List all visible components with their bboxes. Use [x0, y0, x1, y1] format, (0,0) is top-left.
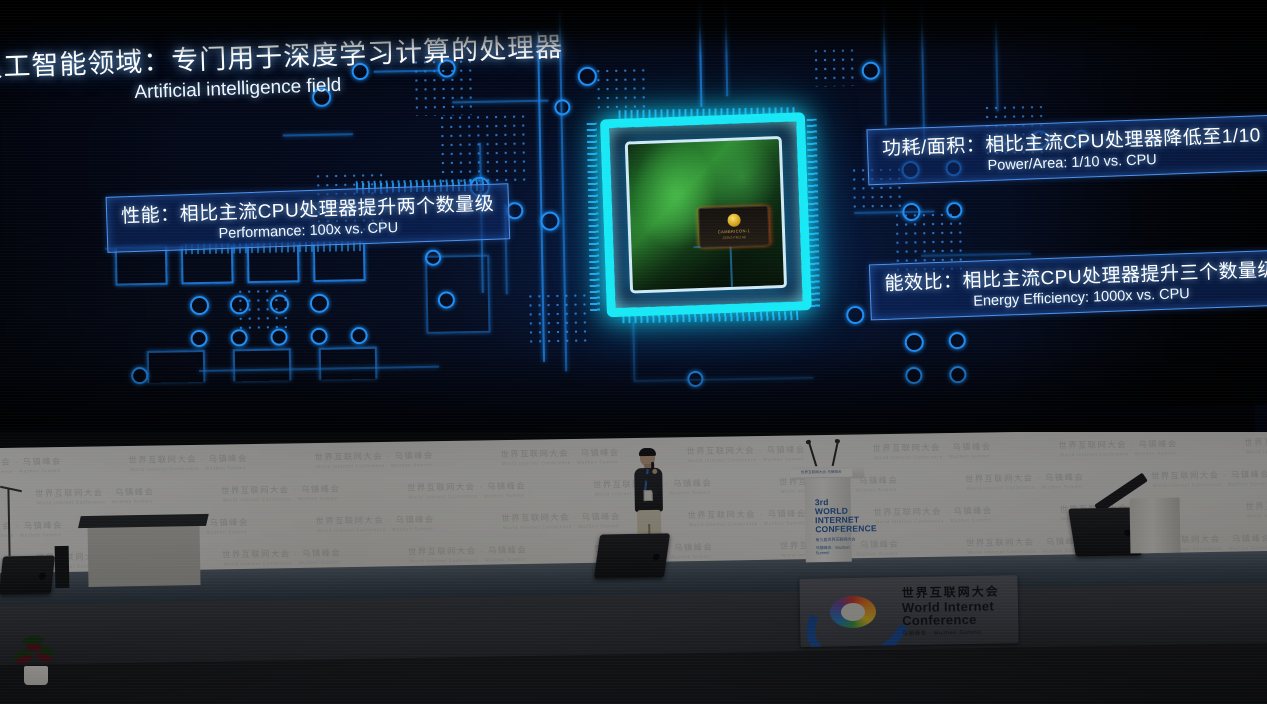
backdrop-brand-unit: 世界互联网大会 · 乌镇峰会World Internet Conference … — [189, 546, 375, 567]
stage-front-logo: 世界互联网大会 World Internet Conference 乌镇峰会 ·… — [799, 575, 1018, 647]
chip-package-line1: CAMBRICON-1 — [700, 228, 768, 235]
podium-sign-cn: 世界互联网大会·乌镇峰会 — [790, 469, 852, 475]
backdrop-brand-unit: 世界互联网大会 · 乌镇峰会World Internet Conference … — [2, 485, 188, 506]
stage-riser-panel — [87, 523, 200, 587]
podium-branding: 3rd WORLD INTERNET CONFERENCE 第三届世界互联网大会… — [815, 498, 856, 556]
backdrop-brand-cn: 世界互联网大会 · 乌镇峰会 — [1211, 434, 1267, 449]
backdrop-brand-cn: 世界互联网大会 · 乌镇峰会 — [1212, 498, 1267, 513]
stage-speaker-left — [55, 546, 70, 588]
backdrop-brand-en: World Internet Conference · Wuzhen Summi… — [0, 531, 96, 539]
backdrop-brand-unit: 世界互联网大会 · 乌镇峰会World Internet Conference … — [0, 454, 95, 475]
processor-chip-graphic: CAMBRICON-1 ZERO-PRO A8 — [600, 112, 812, 317]
podium-brand-line1: 3rd WORLD — [815, 498, 855, 517]
riser-lip — [78, 514, 209, 528]
backdrop-brand-unit: 世界互联网大会 · 乌镇峰会World Internet Conference … — [95, 452, 281, 473]
backdrop-brand-unit: 世界互联网大会 · 乌镇峰会World Internet Conference … — [373, 479, 559, 500]
backdrop-brand-unit: 世界互联网大会 · 乌镇峰会World Internet Conference … — [375, 543, 561, 564]
plant-flower — [26, 644, 42, 651]
backdrop-brand-unit: 世界互联网大会 · 乌镇峰会World Internet Conference … — [188, 482, 374, 503]
stage-logo-en-line2: Conference — [902, 612, 1014, 627]
plant-pot — [24, 666, 48, 685]
backdrop-brand-unit: 世界互联网大会 · 乌镇峰会World Internet Conference … — [931, 470, 1117, 491]
backdrop-brand-unit: 世界互联网大会 · 乌镇峰会World Internet Conference … — [282, 513, 468, 534]
chip-logo-icon — [727, 214, 740, 227]
speaker-hand — [652, 469, 657, 474]
stage-monitor-left — [0, 556, 55, 595]
chip-die-photo: CAMBRICON-1 ZERO-PRO A8 — [625, 136, 787, 294]
backdrop-brand-unit: 世界互联网大会 · 乌镇峰会World Internet Conference … — [1212, 498, 1267, 519]
stage-logo-sub: 乌镇峰会 · Wuzhen Summit — [902, 627, 1014, 637]
stage-logo-text: 世界互联网大会 World Internet Conference 乌镇峰会 ·… — [902, 582, 1015, 637]
chip-package: CAMBRICON-1 ZERO-PRO A8 — [698, 206, 769, 248]
chip-trace-vertical — [729, 245, 733, 294]
decorative-plant — [10, 628, 62, 686]
backdrop-brand-unit: 世界互联网大会 · 乌镇峰会World Internet Conference … — [468, 510, 654, 531]
stage-cube-right — [1130, 498, 1181, 554]
podium-brand-sub-en: 乌镇峰会 · Wuzhen Summit — [816, 545, 856, 556]
backdrop-brand-unit: 世界互联网大会 · 乌镇峰会World Internet Conference … — [281, 449, 467, 470]
backdrop-brand-unit: 世界互联网大会 · 乌镇峰会World Internet Conference … — [840, 504, 1026, 525]
backdrop-brand-unit: 世界互联网大会 · 乌镇峰会World Internet Conference … — [1025, 437, 1211, 458]
podium-brand-sub-cn: 第三届世界互联网大会 — [815, 537, 855, 543]
chip-package-line2: ZERO-PRO A8 — [700, 235, 768, 241]
podium-column: 3rd WORLD INTERNET CONFERENCE 第三届世界互联网大会… — [804, 478, 851, 563]
screen-content: 人工智能领域：专门用于深度学习计算的处理器 Artificial intelli… — [0, 0, 1267, 446]
podium-sign: 世界互联网大会·乌镇峰会 — [790, 469, 852, 478]
backdrop-brand-en: World Internet Conference · Wuzhen Summi… — [0, 467, 95, 475]
podium-brand-line3: CONFERENCE — [815, 525, 855, 535]
backdrop-brand-unit: 世界互联网大会 · 乌镇峰会World Internet Conference … — [839, 440, 1025, 461]
backdrop-brand-unit: 世界互联网大会 · 乌镇峰会World Internet Conference … — [1211, 434, 1267, 455]
conference-photo: 人工智能领域：专门用于深度学习计算的处理器 Artificial intelli… — [0, 0, 1267, 704]
podium: 世界互联网大会·乌镇峰会 3rd WORLD INTERNET CONFEREN… — [798, 465, 860, 561]
stage-monitor-center — [594, 533, 670, 578]
presentation-screen: 人工智能领域：专门用于深度学习计算的处理器 Artificial intelli… — [0, 0, 1267, 446]
backdrop-brand-unit: 世界互联网大会 · 乌镇峰会World Internet Conference … — [467, 446, 653, 467]
speaker-hair — [639, 448, 656, 456]
